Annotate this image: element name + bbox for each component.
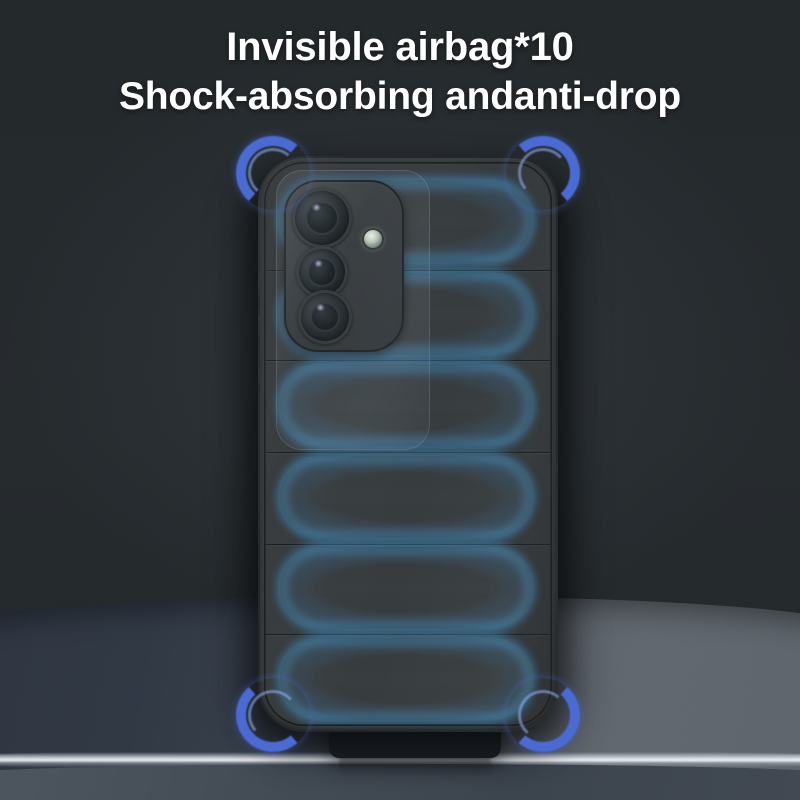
airbag-pill-4 <box>280 456 532 538</box>
headline-line-1: Invisible airbag*10 <box>0 22 800 72</box>
camera-flash <box>362 228 384 250</box>
case-row-divider <box>266 544 550 545</box>
headline-line-2: Shock-absorbing andanti-drop <box>0 72 800 122</box>
camera-lens-tertiary <box>298 290 352 344</box>
corner-airbag-gloss <box>246 688 299 741</box>
airbag-pill-5 <box>280 547 532 629</box>
airbag-pill-6 <box>280 638 532 720</box>
camera-lens-glass <box>310 302 340 332</box>
camera-lens-highlight <box>314 260 323 267</box>
case-row-divider <box>266 634 550 635</box>
airbag-pill-3 <box>280 364 532 446</box>
corner-airbag-gloss <box>516 146 569 199</box>
case-body <box>258 156 558 732</box>
corner-airbag-gloss <box>516 688 569 741</box>
headline: Invisible airbag*10 Shock-absorbing anda… <box>0 22 800 122</box>
camera-lens-highlight <box>312 204 321 211</box>
case-row-divider <box>266 452 550 453</box>
phone-case-product <box>258 156 558 732</box>
corner-airbag-gloss <box>246 146 299 199</box>
case-row-divider <box>266 360 550 361</box>
power-button <box>258 370 260 394</box>
product-marketing-image: Invisible airbag*10 Shock-absorbing anda… <box>0 0 800 800</box>
volume-up-button <box>258 274 260 308</box>
volume-down-button <box>258 316 260 350</box>
camera-module <box>284 180 404 352</box>
camera-lens-glass <box>305 201 339 235</box>
